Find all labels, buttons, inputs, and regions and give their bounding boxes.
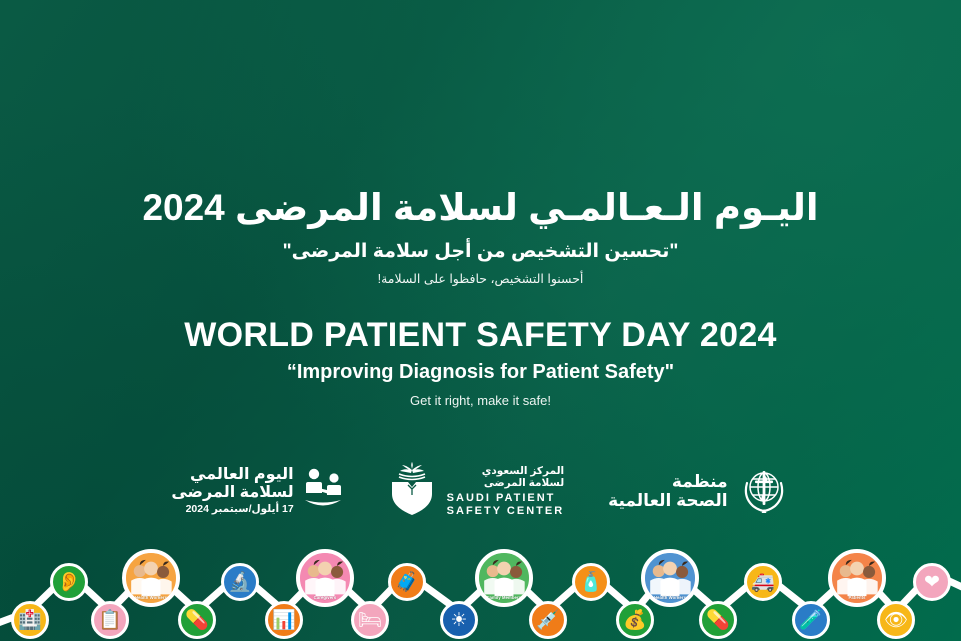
spsc-logo-arabic-line1: المركز السعودي (447, 465, 564, 477)
english-title: WORLD PATIENT SAFETY DAY 2024 (0, 316, 961, 355)
hearing-ear-icon: 👂 (57, 573, 81, 592)
hospital-bed-icon: 🛏 (358, 611, 382, 630)
health-workers-group-caption: Health Workers (126, 595, 176, 600)
hospital-building-icon: 🏥 (18, 611, 42, 630)
who-logo-line2: الصحة العالمية (608, 491, 727, 510)
poster-canvas: اليـوم الـعـالمـي لسلامة المرضى 2024 "تح… (0, 0, 961, 641)
spsc-logo-arabic-line2: لسلامة المرضى (447, 477, 564, 489)
logo-saudi-patient-safety-center: المركز السعودي لسلامة المرضى SAUDI PATIE… (387, 462, 564, 521)
ribbon-node-hearing-ear: 👂 (50, 563, 88, 601)
vaccine-vial-icon: 🧴 (579, 573, 603, 592)
test-tubes-icon: 🧪 (799, 611, 823, 630)
ribbon-node-clinicians-group: Health Workers (641, 549, 699, 607)
ribbon-node-medical-bag: 🧳 (388, 563, 426, 601)
health-funding-icon: 💰 (623, 611, 647, 630)
ribbon-node-heart-pulse: ❤ (913, 563, 951, 601)
ribbon-node-data-chart: 📊 (265, 601, 303, 639)
spsc-logo-english-line1: SAUDI PATIENT (447, 492, 564, 505)
arabic-subtitle: "تحسين التشخيص من أجل سلامة المرضى" (0, 241, 961, 264)
icon-ribbon: 🏥👂📋Health Workers💊🔬📊Caregivers🛏🧳☀Family … (0, 531, 961, 641)
pills-capsules-icon: 💊 (706, 611, 730, 630)
ribbon-node-caregivers-group: Caregivers (296, 549, 354, 607)
ambulance-icon: 🚑 (751, 573, 775, 592)
patients-group-caption: Patients (832, 595, 882, 600)
ribbon-node-patients-group: Patients (828, 549, 886, 607)
ribbon-node-microscope: 🔬 (221, 563, 259, 601)
wpsd-logo-line1: اليوم العالمي (171, 466, 293, 484)
ribbon-node-hospital-building: 🏥 (11, 601, 49, 639)
ribbon-node-vaccine-vial: 🧴 (572, 563, 610, 601)
english-subtitle: “Improving Diagnosis for Patient Safety" (0, 361, 961, 384)
family-members-group-caption: Family Members (479, 595, 529, 600)
arabic-tagline: أحسنوا التشخيص، حافظوا على السلامة! (0, 272, 961, 287)
logo-world-patient-safety-day: اليوم العالمي لسلامة المرضى 17 أيلول/سبت… (171, 466, 342, 517)
medicine-bottle-icon: 💉 (536, 611, 560, 630)
clipboard-notes-icon: 📋 (98, 611, 122, 630)
caregivers-group-caption: Caregivers (300, 595, 350, 600)
ribbon-node-pills-capsules: 💊 (699, 601, 737, 639)
logo-row: اليوم العالمي لسلامة المرضى 17 أيلول/سبت… (0, 455, 961, 527)
vaccine-sun-icon: ☀ (450, 611, 467, 630)
two-figures-care-icon (303, 466, 343, 517)
wpsd-logo-date: 17 أيلول/سبتمبر 2024 (171, 504, 293, 516)
microscope-icon: 🔬 (228, 573, 252, 592)
ribbon-node-family-members-group: Family Members (475, 549, 533, 607)
ribbon-node-vaccine-sun: ☀ (440, 601, 478, 639)
spsc-logo-english-line2: SAFETY CENTER (447, 505, 564, 518)
ribbon-node-health-workers-group: Health Workers (122, 549, 180, 607)
wpsd-logo-line2: لسلامة المرضى (171, 484, 293, 502)
ribbon-node-hospital-bed: 🛏 (351, 601, 389, 639)
ribbon-node-clipboard-notes: 📋 (91, 601, 129, 639)
logo-world-health-organization: منظمة الصحة العالمية (608, 463, 789, 520)
ribbon-node-clinic-pharmacy: 💊 (178, 601, 216, 639)
english-tagline: Get it right, make it safe! (0, 393, 961, 408)
saudi-shield-palm-icon (387, 462, 437, 521)
arabic-title: اليـوم الـعـالمـي لسلامة المرضى 2024 (0, 186, 961, 230)
ribbon-node-health-funding: 💰 (616, 601, 654, 639)
eye-care-icon: 👁 (884, 611, 908, 630)
ribbon-node-medicine-bottle: 💉 (529, 601, 567, 639)
heart-pulse-icon: ❤ (924, 573, 940, 592)
ribbon-node-test-tubes: 🧪 (792, 601, 830, 639)
clinicians-group-caption: Health Workers (645, 595, 695, 600)
medical-bag-icon: 🧳 (395, 573, 419, 592)
who-emblem-icon (738, 463, 790, 520)
data-chart-icon: 📊 (272, 611, 296, 630)
clinic-pharmacy-icon: 💊 (185, 611, 209, 630)
who-logo-line1: منظمة (608, 472, 727, 491)
ribbon-node-ambulance: 🚑 (744, 563, 782, 601)
ribbon-node-eye-care: 👁 (877, 601, 915, 639)
